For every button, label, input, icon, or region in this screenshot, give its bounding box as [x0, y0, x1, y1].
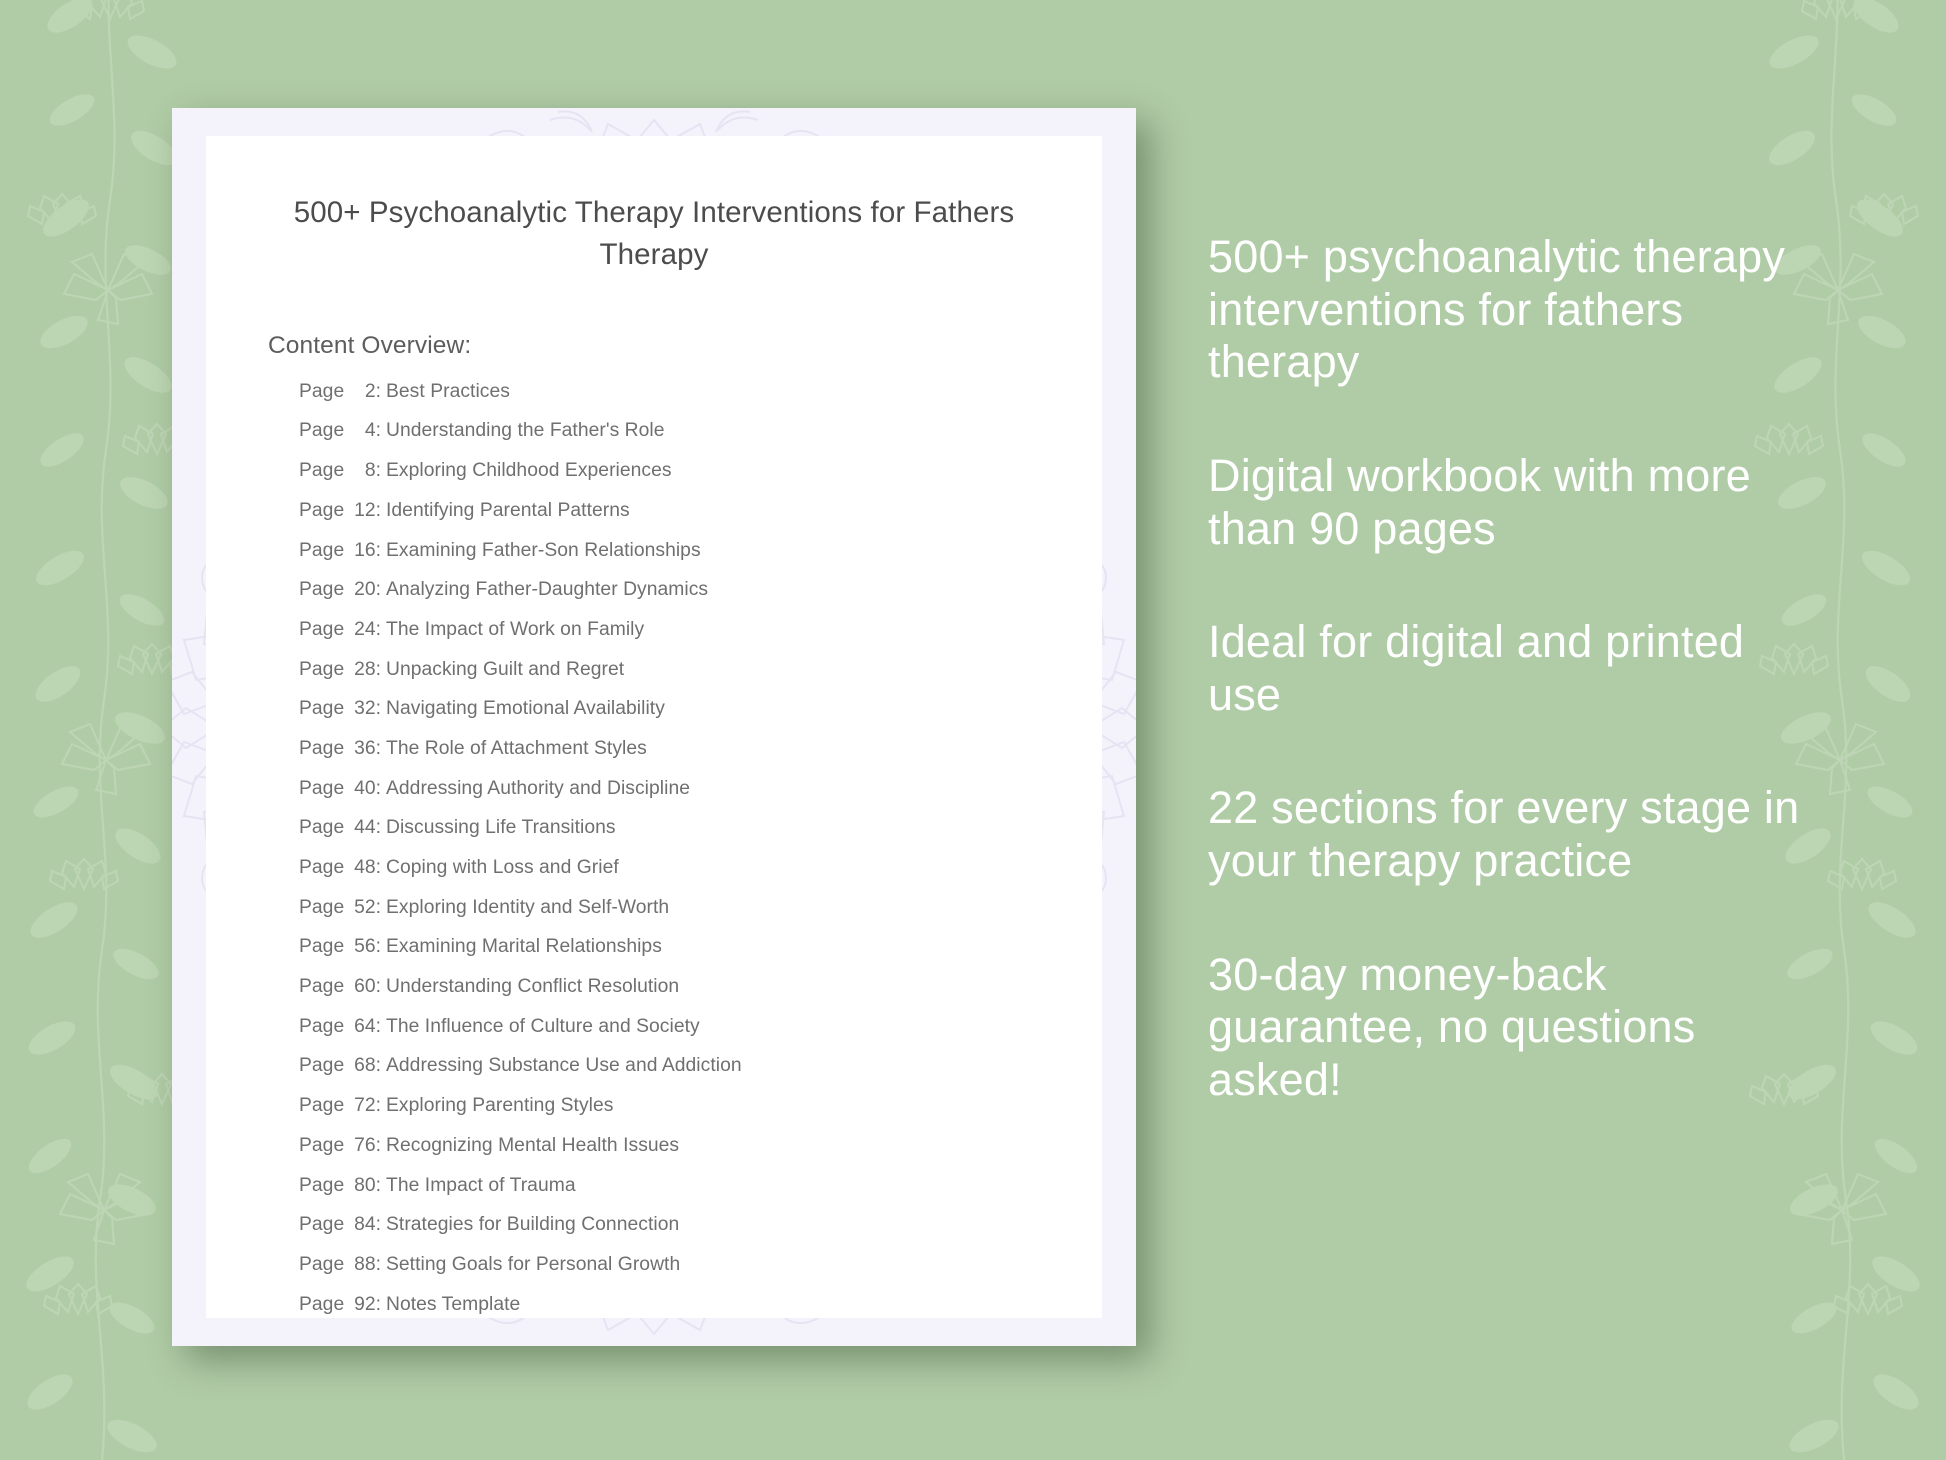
toc-page-word: Page: [299, 1135, 344, 1156]
toc-page-word: Page: [299, 1175, 344, 1196]
toc-page-word: Page: [299, 738, 344, 759]
list-item: Page 28:Unpacking Guilt and Regret: [299, 660, 1040, 679]
table-of-contents: Page 2:Best PracticesPage 4:Understandin…: [268, 382, 1040, 1314]
toc-page-number: Page 92:: [299, 1295, 386, 1314]
marketing-copy-column: 500+ psychoanalytic therapy intervention…: [1208, 186, 1828, 1107]
toc-page-number: Page 12:: [299, 501, 386, 520]
toc-page-number: Page 64:: [299, 1017, 386, 1036]
toc-page-word: Page: [299, 500, 344, 521]
toc-section-title: Analyzing Father-Daughter Dynamics: [386, 580, 708, 599]
toc-number: 84: [350, 1215, 376, 1234]
list-item: Page 8:Exploring Childhood Experiences: [299, 461, 1040, 480]
toc-page-word: Page: [299, 460, 344, 481]
toc-number: 88: [350, 1255, 376, 1274]
toc-number: 32: [350, 699, 376, 718]
toc-number: 16: [350, 541, 376, 560]
toc-number: 40: [350, 779, 376, 798]
toc-page-number: Page 28:: [299, 660, 386, 679]
workbook-preview-card[interactable]: 500+ Psychoanalytic Therapy Intervention…: [172, 108, 1136, 1346]
toc-page-number: Page 20:: [299, 580, 386, 599]
toc-separator: :: [376, 500, 381, 521]
list-item: Page 40:Addressing Authority and Discipl…: [299, 779, 1040, 798]
toc-separator: :: [376, 1175, 381, 1196]
toc-page-word: Page: [299, 936, 344, 957]
toc-section-title: Notes Template: [386, 1295, 520, 1314]
toc-section-title: Strategies for Building Connection: [386, 1215, 679, 1234]
toc-separator: :: [376, 1016, 381, 1037]
toc-page-word: Page: [299, 1016, 344, 1037]
list-item: Page 68:Addressing Substance Use and Add…: [299, 1056, 1040, 1075]
toc-page-word: Page: [299, 619, 344, 640]
toc-separator: :: [376, 659, 381, 680]
toc-number: 72: [350, 1096, 376, 1115]
toc-separator: :: [376, 619, 381, 640]
toc-page-word: Page: [299, 778, 344, 799]
toc-section-title: Coping with Loss and Grief: [386, 858, 619, 877]
toc-separator: :: [376, 1254, 381, 1275]
marketing-bullet: Digital workbook with more than 90 pages: [1208, 450, 1828, 555]
toc-page-word: Page: [299, 1254, 344, 1275]
toc-page-number: Page 72:: [299, 1096, 386, 1115]
toc-number: 2: [350, 382, 376, 401]
toc-separator: :: [376, 897, 381, 918]
list-item: Page 44:Discussing Life Transitions: [299, 818, 1040, 837]
list-item: Page 56:Examining Marital Relationships: [299, 937, 1040, 956]
toc-section-title: The Role of Attachment Styles: [386, 739, 647, 758]
toc-number: 52: [350, 898, 376, 917]
list-item: Page 76:Recognizing Mental Health Issues: [299, 1136, 1040, 1155]
toc-section-title: Understanding Conflict Resolution: [386, 977, 679, 996]
toc-separator: :: [376, 738, 381, 759]
list-item: Page 84:Strategies for Building Connecti…: [299, 1215, 1040, 1234]
toc-page-number: Page 80:: [299, 1176, 386, 1195]
toc-page-number: Page 60:: [299, 977, 386, 996]
toc-number: 48: [350, 858, 376, 877]
toc-page-word: Page: [299, 1294, 344, 1315]
content-overview-heading: Content Overview:: [268, 332, 1040, 360]
toc-number: 24: [350, 620, 376, 639]
list-item: Page 2:Best Practices: [299, 382, 1040, 401]
list-item: Page 88:Setting Goals for Personal Growt…: [299, 1255, 1040, 1274]
toc-separator: :: [376, 420, 381, 441]
toc-page-number: Page 32:: [299, 699, 386, 718]
toc-separator: :: [376, 936, 381, 957]
toc-section-title: The Impact of Work on Family: [386, 620, 644, 639]
toc-section-title: Examining Father-Son Relationships: [386, 541, 701, 560]
toc-separator: :: [376, 1294, 381, 1315]
toc-section-title: Navigating Emotional Availability: [386, 699, 665, 718]
list-item: Page 48:Coping with Loss and Grief: [299, 858, 1040, 877]
list-item: Page 4:Understanding the Father's Role: [299, 421, 1040, 440]
toc-separator: :: [376, 778, 381, 799]
toc-page-number: Page 40:: [299, 779, 386, 798]
toc-separator: :: [376, 460, 381, 481]
toc-page-number: Page 16:: [299, 541, 386, 560]
toc-section-title: Addressing Authority and Discipline: [386, 779, 690, 798]
toc-page-word: Page: [299, 1214, 344, 1235]
toc-number: 36: [350, 739, 376, 758]
toc-section-title: Recognizing Mental Health Issues: [386, 1136, 679, 1155]
list-item: Page 20:Analyzing Father-Daughter Dynami…: [299, 580, 1040, 599]
toc-page-word: Page: [299, 897, 344, 918]
workbook-page: 500+ Psychoanalytic Therapy Intervention…: [206, 136, 1102, 1318]
toc-page-word: Page: [299, 1095, 344, 1116]
toc-page-word: Page: [299, 579, 344, 600]
toc-number: 80: [350, 1176, 376, 1195]
toc-number: 56: [350, 937, 376, 956]
toc-number: 68: [350, 1056, 376, 1075]
toc-number: 44: [350, 818, 376, 837]
toc-page-word: Page: [299, 659, 344, 680]
toc-separator: :: [376, 1214, 381, 1235]
toc-page-word: Page: [299, 381, 344, 402]
toc-page-number: Page 68:: [299, 1056, 386, 1075]
list-item: Page 24:The Impact of Work on Family: [299, 620, 1040, 639]
toc-separator: :: [376, 1095, 381, 1116]
toc-page-number: Page 56:: [299, 937, 386, 956]
toc-section-title: Exploring Identity and Self-Worth: [386, 898, 669, 917]
list-item: Page 80:The Impact of Trauma: [299, 1176, 1040, 1195]
toc-page-word: Page: [299, 420, 344, 441]
marketing-bullet: 500+ psychoanalytic therapy intervention…: [1208, 231, 1828, 389]
list-item: Page 32:Navigating Emotional Availabilit…: [299, 699, 1040, 718]
toc-separator: :: [376, 381, 381, 402]
toc-section-title: Exploring Childhood Experiences: [386, 461, 672, 480]
toc-section-title: Identifying Parental Patterns: [386, 501, 630, 520]
list-item: Page 52:Exploring Identity and Self-Wort…: [299, 898, 1040, 917]
toc-separator: :: [376, 817, 381, 838]
toc-section-title: Exploring Parenting Styles: [386, 1096, 613, 1115]
toc-number: 92: [350, 1295, 376, 1314]
toc-page-number: Page 44:: [299, 818, 386, 837]
toc-number: 64: [350, 1017, 376, 1036]
list-item: Page 64:The Influence of Culture and Soc…: [299, 1017, 1040, 1036]
marketing-bullet: 22 sections for every stage in your ther…: [1208, 782, 1828, 887]
toc-page-word: Page: [299, 540, 344, 561]
toc-separator: :: [376, 857, 381, 878]
toc-section-title: Examining Marital Relationships: [386, 937, 662, 956]
toc-page-word: Page: [299, 817, 344, 838]
toc-page-number: Page 84:: [299, 1215, 386, 1234]
list-item: Page 72:Exploring Parenting Styles: [299, 1096, 1040, 1115]
toc-page-number: Page 76:: [299, 1136, 386, 1155]
toc-page-number: Page 52:: [299, 898, 386, 917]
toc-section-title: The Influence of Culture and Society: [386, 1017, 700, 1036]
marketing-bullet: 30-day money-back guarantee, no question…: [1208, 949, 1828, 1107]
toc-page-number: Page 88:: [299, 1255, 386, 1274]
toc-section-title: The Impact of Trauma: [386, 1176, 576, 1195]
list-item: Page 92:Notes Template: [299, 1295, 1040, 1314]
toc-section-title: Unpacking Guilt and Regret: [386, 660, 624, 679]
toc-separator: :: [376, 540, 381, 561]
page-background: 500+ Psychoanalytic Therapy Intervention…: [0, 0, 1946, 1460]
toc-page-word: Page: [299, 976, 344, 997]
toc-section-title: Addressing Substance Use and Addiction: [386, 1056, 742, 1075]
toc-number: 76: [350, 1136, 376, 1155]
toc-page-word: Page: [299, 857, 344, 878]
toc-number: 12: [350, 501, 376, 520]
toc-page-number: Page 48:: [299, 858, 386, 877]
toc-page-number: Page 24:: [299, 620, 386, 639]
toc-page-word: Page: [299, 1055, 344, 1076]
toc-separator: :: [376, 976, 381, 997]
toc-section-title: Setting Goals for Personal Growth: [386, 1255, 680, 1274]
toc-number: 4: [350, 421, 376, 440]
toc-section-title: Discussing Life Transitions: [386, 818, 616, 837]
toc-number: 8: [350, 461, 376, 480]
page-title: 500+ Psychoanalytic Therapy Intervention…: [282, 192, 1026, 276]
marketing-bullet: Ideal for digital and printed use: [1208, 616, 1828, 721]
list-item: Page 12:Identifying Parental Patterns: [299, 501, 1040, 520]
toc-page-number: Page 2:: [299, 382, 386, 401]
toc-separator: :: [376, 1055, 381, 1076]
toc-separator: :: [376, 579, 381, 600]
list-item: Page 16:Examining Father-Son Relationshi…: [299, 541, 1040, 560]
toc-page-word: Page: [299, 698, 344, 719]
list-item: Page 36:The Role of Attachment Styles: [299, 739, 1040, 758]
toc-page-number: Page 4:: [299, 421, 386, 440]
list-item: Page 60:Understanding Conflict Resolutio…: [299, 977, 1040, 996]
toc-section-title: Best Practices: [386, 382, 510, 401]
toc-separator: :: [376, 698, 381, 719]
toc-number: 60: [350, 977, 376, 996]
toc-number: 28: [350, 660, 376, 679]
toc-separator: :: [376, 1135, 381, 1156]
toc-page-number: Page 8:: [299, 461, 386, 480]
toc-page-number: Page 36:: [299, 739, 386, 758]
toc-section-title: Understanding the Father's Role: [386, 421, 665, 440]
toc-number: 20: [350, 580, 376, 599]
